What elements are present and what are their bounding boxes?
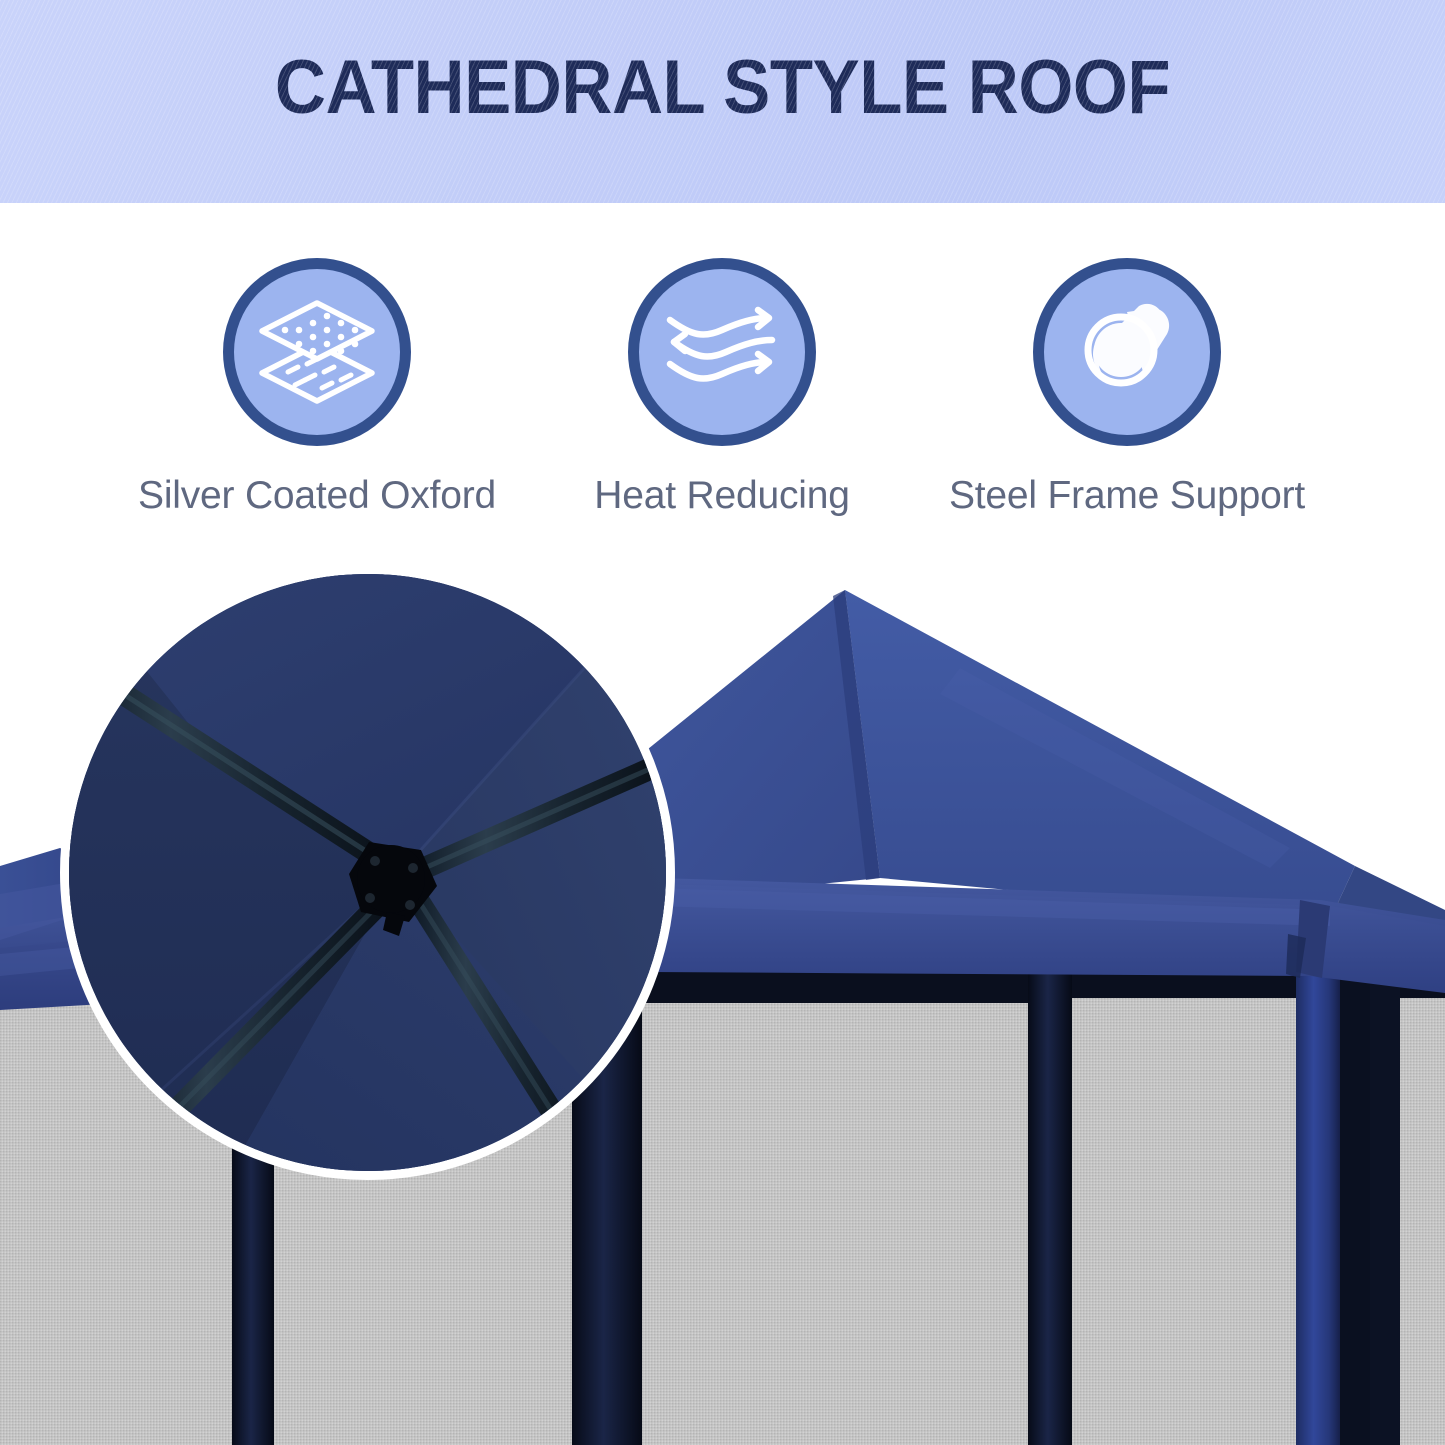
feature-icon-badge-3 <box>1033 258 1221 446</box>
page-title: CATHEDRAL STYLE ROOF <box>51 50 1395 126</box>
infographic-root: CATHEDRAL STYLE ROOF <box>0 0 1445 1445</box>
feature-item-silver-coated-oxford: Silver Coated Oxford <box>112 203 522 548</box>
feature-icon-badge-1 <box>223 258 411 446</box>
steel-tube-icon <box>1071 300 1183 404</box>
feature-item-heat-reducing: Heat Reducing <box>517 203 927 548</box>
feature-icon-badge-2 <box>628 258 816 446</box>
feature-label-3: Steel Frame Support <box>949 474 1305 518</box>
feature-item-steel-frame-support: Steel Frame Support <box>922 203 1332 548</box>
closeup-inset-roof-frame <box>60 565 675 1180</box>
feature-label-1: Silver Coated Oxford <box>138 474 496 518</box>
airflow-waves-icon <box>662 302 782 402</box>
fabric-layers-icon <box>255 297 379 407</box>
header-banner: CATHEDRAL STYLE ROOF <box>0 0 1445 203</box>
roof-frame-hub-illustration <box>69 574 669 1174</box>
feature-label-2: Heat Reducing <box>594 474 849 518</box>
feature-row: Silver Coated Oxford <box>0 203 1445 548</box>
